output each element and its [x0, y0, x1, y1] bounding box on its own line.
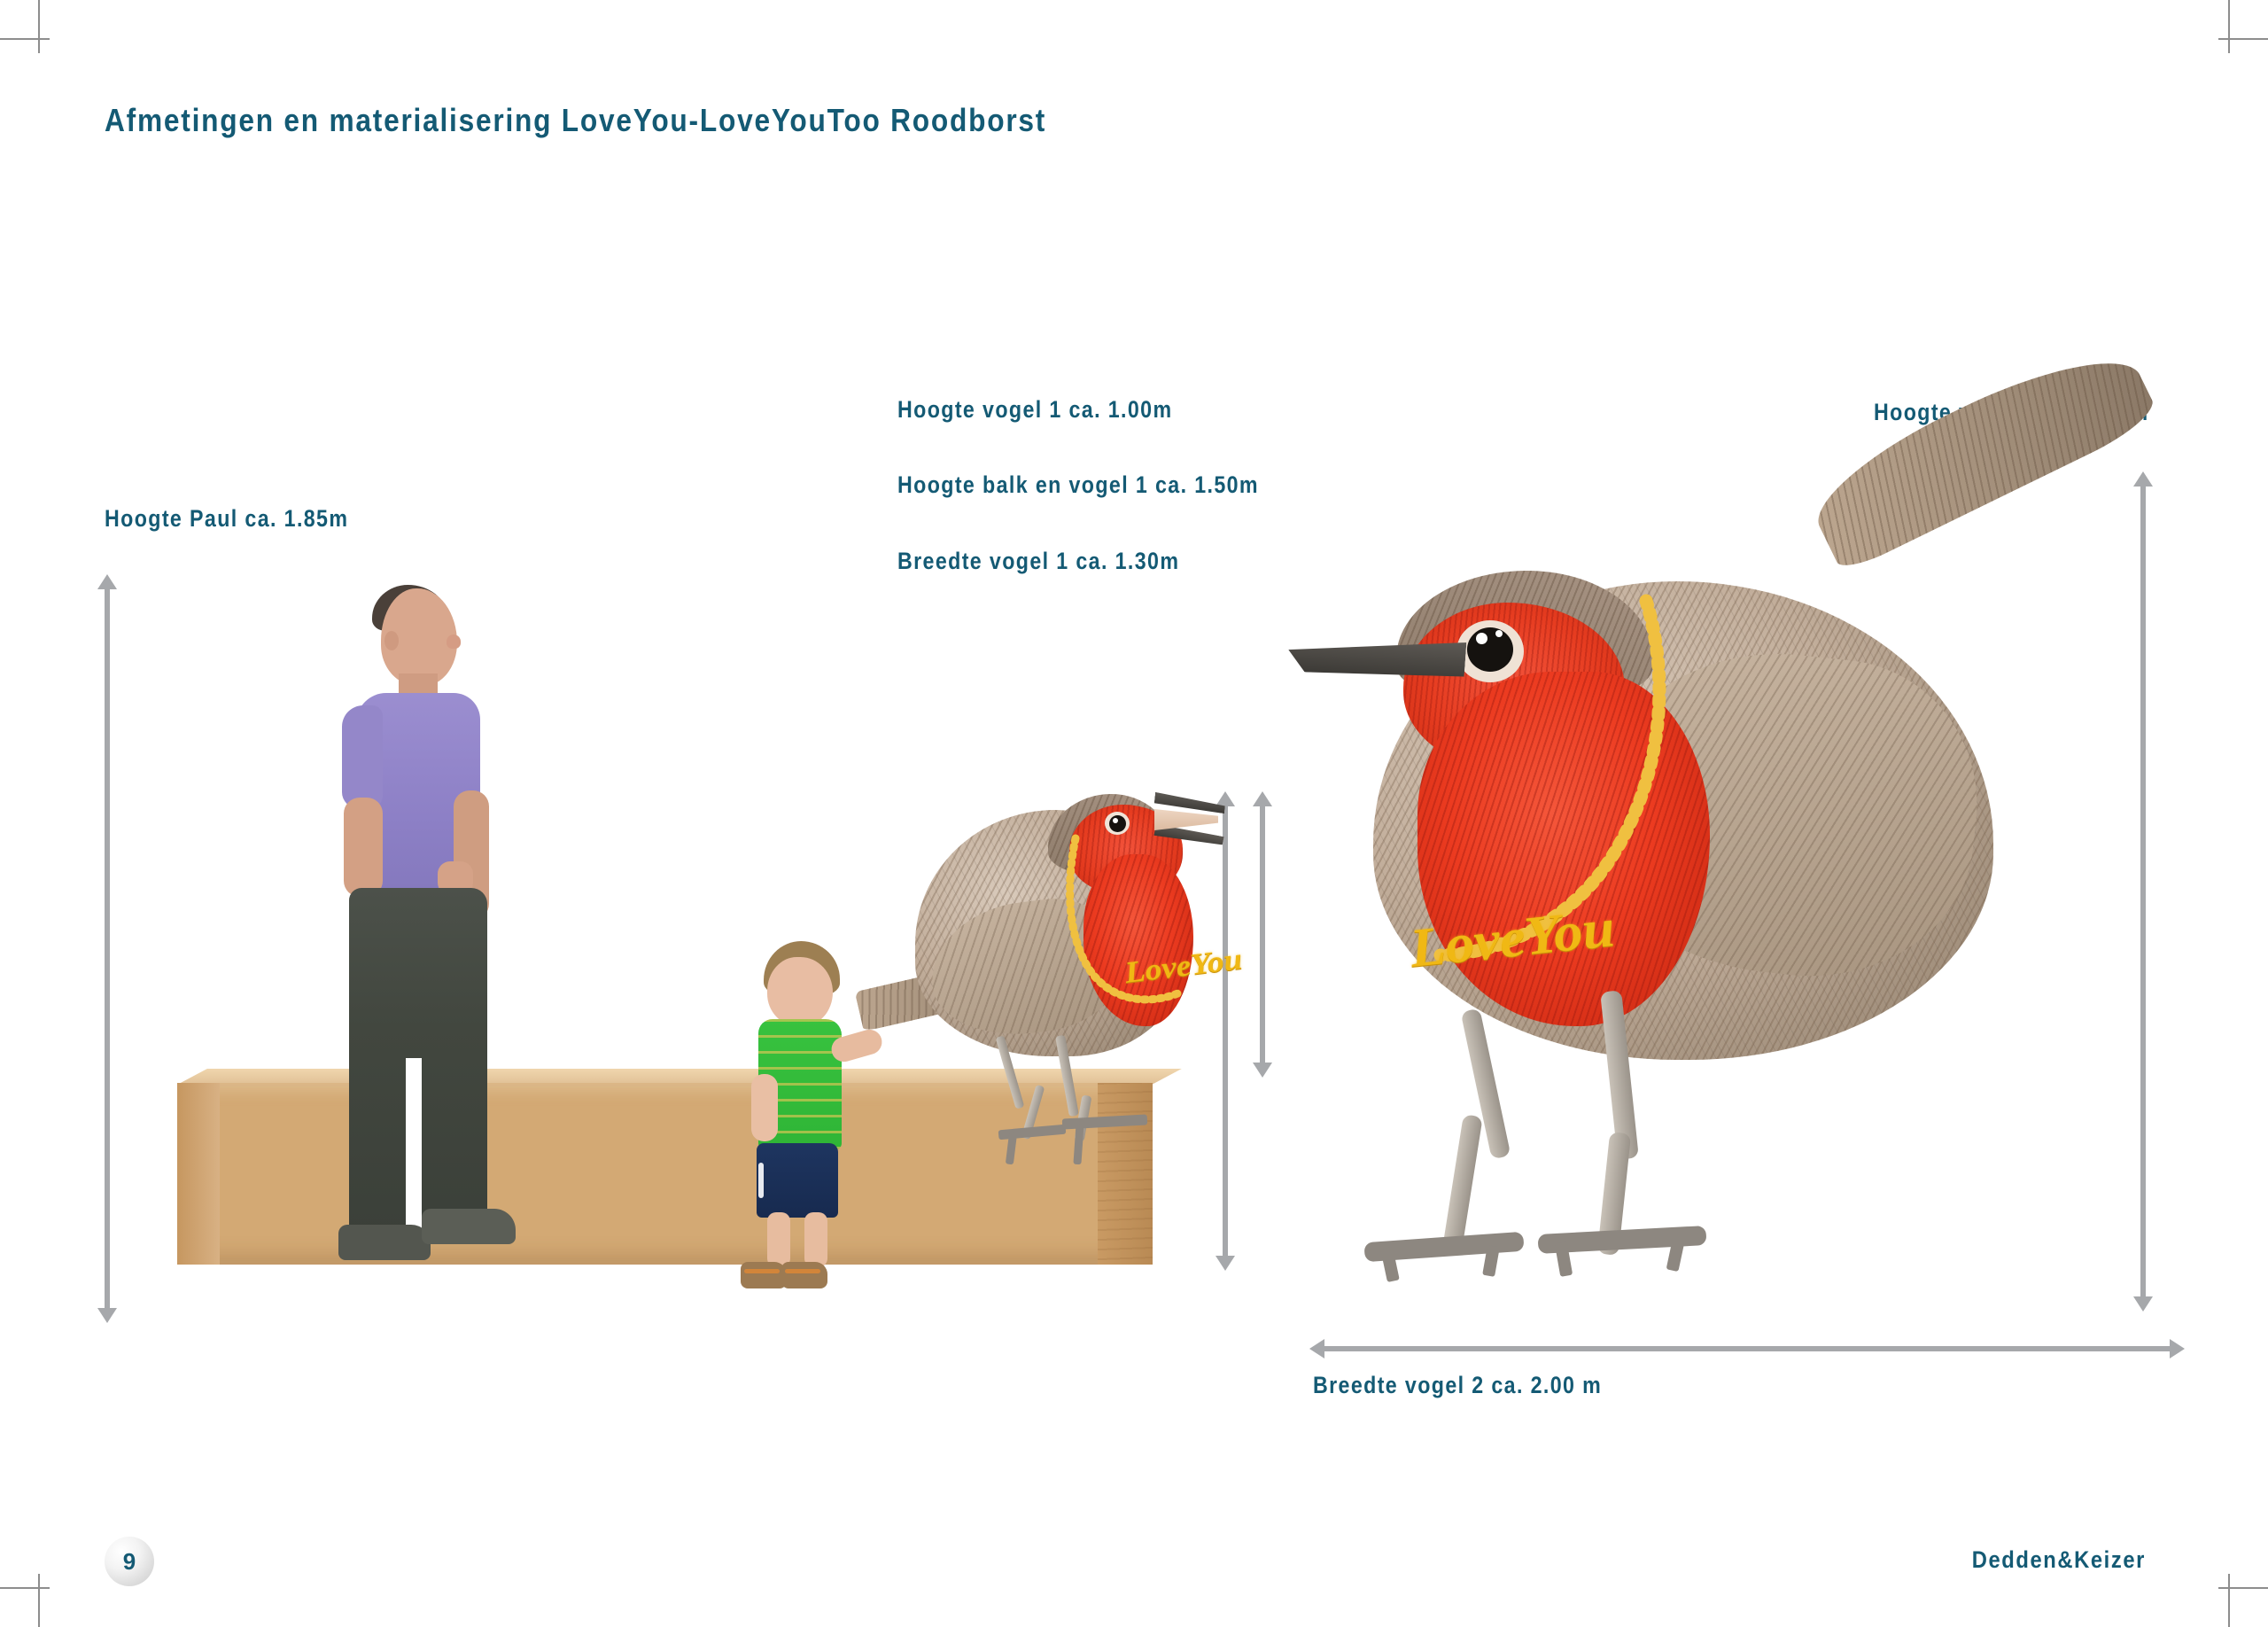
child-shorts	[757, 1143, 838, 1218]
bird1-eye-glint	[1113, 818, 1118, 823]
man-left-shoe	[338, 1225, 431, 1260]
label-bird2-width: Breedte vogel 2 ca. 2.00 m	[1313, 1372, 1602, 1399]
child-left-sandal	[741, 1262, 787, 1288]
photo-figure-man	[330, 588, 516, 1297]
sandal-strap	[785, 1269, 820, 1273]
page-number: 9	[123, 1548, 136, 1576]
dimension-arrow-bird2-width	[1309, 1339, 2185, 1358]
child-shorts-stripe	[758, 1163, 764, 1198]
bird1-necklace-strand	[1063, 828, 1187, 1023]
arrow-shaft	[105, 586, 110, 1312]
man-ear	[384, 631, 399, 650]
man-sleeve	[342, 705, 383, 808]
arrow-shaft	[1321, 1346, 2173, 1351]
crop-mark-bottom-right-vertical	[2228, 1574, 2230, 1627]
label-paul-height: Hoogte Paul ca. 1.85m	[105, 505, 348, 533]
crop-mark-bottom-left-vertical	[38, 1574, 40, 1627]
child-head	[767, 957, 833, 1026]
crop-mark-top-right-vertical	[2228, 0, 2230, 53]
footer-brand: Dedden&Keizer	[1972, 1546, 2146, 1574]
sandal-strap	[744, 1269, 780, 1273]
crop-mark-bottom-left-horizontal	[0, 1587, 50, 1589]
bird1-right-foot-toes	[1062, 1114, 1147, 1129]
bird2-left-leg-lower	[1442, 1114, 1483, 1250]
robin-sculpture-2: LoveYou	[1311, 486, 2144, 1310]
label-bird1-height: Hoogte vogel 1 ca. 1.00m	[897, 396, 1172, 424]
child-right-sandal	[781, 1262, 827, 1288]
man-nose	[447, 634, 461, 649]
arrow-head-right	[2170, 1339, 2185, 1358]
beam-left-end	[177, 1083, 220, 1265]
presentation-page: Afmetingen en materialisering LoveYou-Lo…	[0, 0, 2268, 1627]
label-beam-bird1-height: Hoogte balk en vogel 1 ca. 1.50m	[897, 471, 1259, 499]
photo-figure-child	[746, 941, 863, 1301]
dimension-arrow-bird1-height	[1253, 791, 1272, 1078]
man-right-shoe	[422, 1209, 516, 1244]
arrow-head-down	[1216, 1256, 1235, 1271]
dimension-arrow-paul-height	[97, 574, 117, 1323]
man-left-arm	[344, 798, 383, 897]
page-title: Afmetingen en materialisering LoveYou-Lo…	[105, 102, 1046, 139]
arrow-shaft	[1260, 803, 1265, 1066]
page-number-badge: 9	[105, 1537, 154, 1586]
label-bird1-width: Breedte vogel 1 ca. 1.30m	[897, 548, 1179, 575]
arrow-head-down	[1253, 1063, 1272, 1078]
bird2-tail	[1800, 331, 2162, 574]
robin-sculpture-1: LoveYou	[873, 780, 1227, 1134]
crop-mark-top-left-vertical	[38, 0, 40, 53]
crop-mark-top-right-horizontal	[2218, 38, 2268, 40]
crop-mark-bottom-right-horizontal	[2218, 1587, 2268, 1589]
man-leg-gap	[406, 1058, 422, 1235]
bird1-necklace	[1063, 828, 1187, 1023]
child-left-leg	[767, 1212, 790, 1267]
child-legs	[767, 1212, 829, 1267]
crop-mark-top-left-horizontal	[0, 38, 50, 40]
child-left-arm	[751, 1074, 778, 1141]
arrow-head-down	[97, 1308, 117, 1323]
child-right-leg	[804, 1212, 827, 1267]
